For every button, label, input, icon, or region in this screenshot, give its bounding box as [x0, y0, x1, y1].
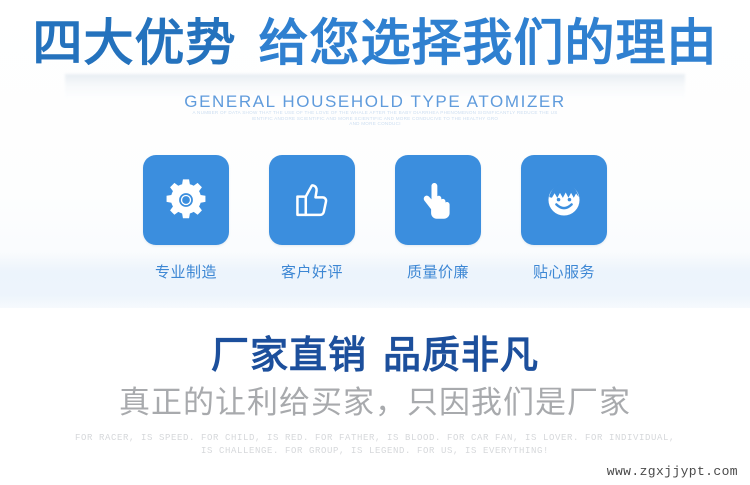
subtitle-english: GENERAL HOUSEHOLD TYPE ATOMIZER — [0, 92, 750, 112]
pointing-hand-icon — [416, 177, 460, 223]
promo-english-line-2: IS CHALLENGE. FOR GROUP, IS LEGEND. FOR … — [0, 445, 750, 458]
micro-text-block: A NUMBER OF DATA SHOW THAT THE USE OF TH… — [0, 110, 750, 127]
promo-title: 厂家直销品质非凡 — [0, 334, 750, 378]
promo-english-line-1: FOR RACER, IS SPEED. FOR CHILD, IS RED. … — [0, 432, 750, 445]
top-section: 四大优势给您选择我们的理由 GENERAL HOUSEHOLD TYPE ATO… — [0, 0, 750, 300]
main-title-part2: 给您选择我们的理由 — [259, 15, 718, 71]
thumbs-up-icon — [289, 177, 335, 223]
feature-card[interactable]: 贴心服务 — [521, 155, 607, 287]
gear-icon — [163, 177, 209, 223]
feature-label: 质量价廉 — [407, 261, 469, 282]
promo-title-part1: 厂家直销 — [211, 335, 367, 377]
feature-card[interactable]: 客户好评 — [269, 155, 355, 287]
feature-tile[interactable] — [143, 155, 229, 245]
micro-text-line-3: AND MORE CONDUCI — [0, 121, 750, 127]
feature-card[interactable]: 专业制造 — [143, 155, 229, 287]
feature-tile[interactable] — [521, 155, 607, 245]
bottom-section: 厂家直销品质非凡 真正的让利给买家，只因我们是厂家 FOR RACER, IS … — [0, 308, 750, 485]
feature-cards: 专业制造 客户好评 — [143, 155, 607, 287]
website-url[interactable]: www.zgxjjypt.com — [607, 464, 738, 479]
feature-label: 专业制造 — [155, 261, 217, 282]
feature-card[interactable]: 质量价廉 — [395, 155, 481, 287]
feature-label: 贴心服务 — [533, 261, 595, 282]
main-title-part1: 四大优势 — [33, 15, 237, 71]
promo-english-block: FOR RACER, IS SPEED. FOR CHILD, IS RED. … — [0, 432, 750, 458]
smiley-face-icon — [541, 177, 587, 223]
feature-label: 客户好评 — [281, 261, 343, 282]
feature-tile[interactable] — [395, 155, 481, 245]
promo-subtitle: 真正的让利给买家，只因我们是厂家 — [0, 384, 750, 422]
promo-banner: 四大优势给您选择我们的理由 GENERAL HOUSEHOLD TYPE ATO… — [0, 0, 750, 485]
feature-tile[interactable] — [269, 155, 355, 245]
promo-title-part2: 品质非凡 — [383, 335, 539, 377]
main-title: 四大优势给您选择我们的理由 — [0, 12, 750, 74]
